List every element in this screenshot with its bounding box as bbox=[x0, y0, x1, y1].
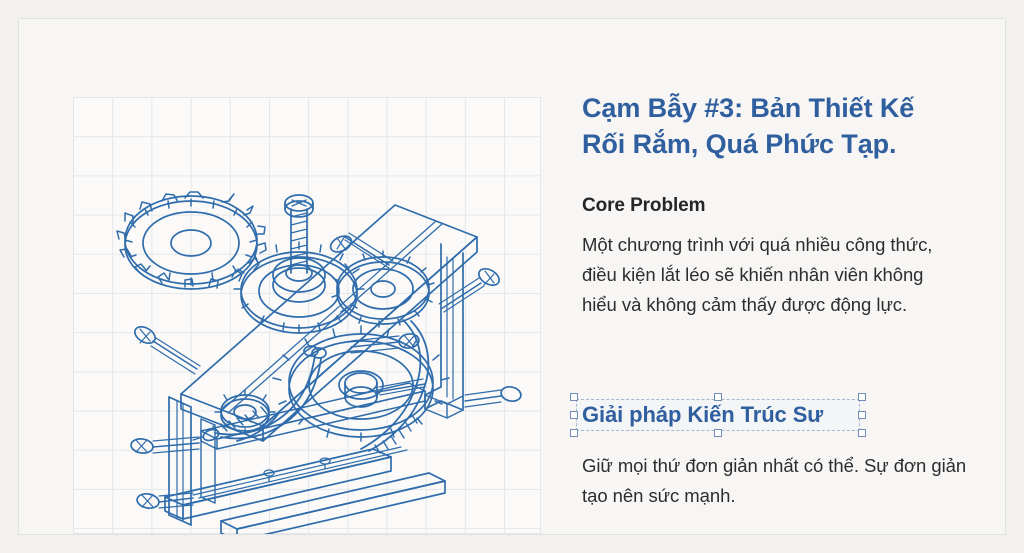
resize-handle-middle-right[interactable] bbox=[858, 411, 866, 419]
slide-canvas: Cạm Bẫy #3: Bản Thiết Kế Rối Rắm, Quá Ph… bbox=[0, 0, 1024, 553]
core-problem-heading: Core Problem bbox=[582, 163, 982, 217]
resize-handle-bottom-left[interactable] bbox=[570, 429, 578, 437]
solution-body: Giữ mọi thứ đơn giản nhất có thể. Sự đơn… bbox=[582, 451, 974, 511]
bolt-left-upper bbox=[132, 323, 200, 374]
resize-handle-top-right[interactable] bbox=[858, 393, 866, 401]
screw-center bbox=[285, 195, 313, 273]
slide-card: Cạm Bẫy #3: Bản Thiết Kế Rối Rắm, Quá Ph… bbox=[18, 18, 1006, 535]
text-content-column: Cạm Bẫy #3: Bản Thiết Kế Rối Rắm, Quá Ph… bbox=[582, 91, 982, 320]
gear-large-left bbox=[117, 192, 266, 289]
gear-lower-large bbox=[273, 326, 449, 441]
resize-handle-bottom-middle[interactable] bbox=[714, 429, 722, 437]
bolt-left-mid bbox=[130, 437, 199, 454]
blueprint-illustration-panel[interactable] bbox=[73, 97, 541, 534]
frame-left-vertical bbox=[169, 397, 215, 525]
resize-handle-top-left[interactable] bbox=[570, 393, 578, 401]
resize-handle-middle-left[interactable] bbox=[570, 411, 578, 419]
bolt-right-mid bbox=[351, 333, 420, 353]
core-problem-body: Một chương trình với quá nhiều công thức… bbox=[582, 217, 954, 320]
page-title: Cạm Bẫy #3: Bản Thiết Kế Rối Rắm, Quá Ph… bbox=[582, 91, 957, 163]
resize-handle-bottom-right[interactable] bbox=[858, 429, 866, 437]
solution-label: Giải pháp Kiến Trúc Sư bbox=[582, 402, 823, 428]
bolt-top-right bbox=[439, 265, 502, 312]
bolt-lower-right bbox=[465, 385, 522, 407]
bolt-left-lower bbox=[136, 492, 193, 510]
gear-mechanism-drawing bbox=[73, 97, 541, 534]
resize-handle-top-middle[interactable] bbox=[714, 393, 722, 401]
solution-textbox-selection[interactable]: Giải pháp Kiến Trúc Sư bbox=[570, 393, 866, 437]
base-rail-bottom bbox=[221, 473, 445, 534]
